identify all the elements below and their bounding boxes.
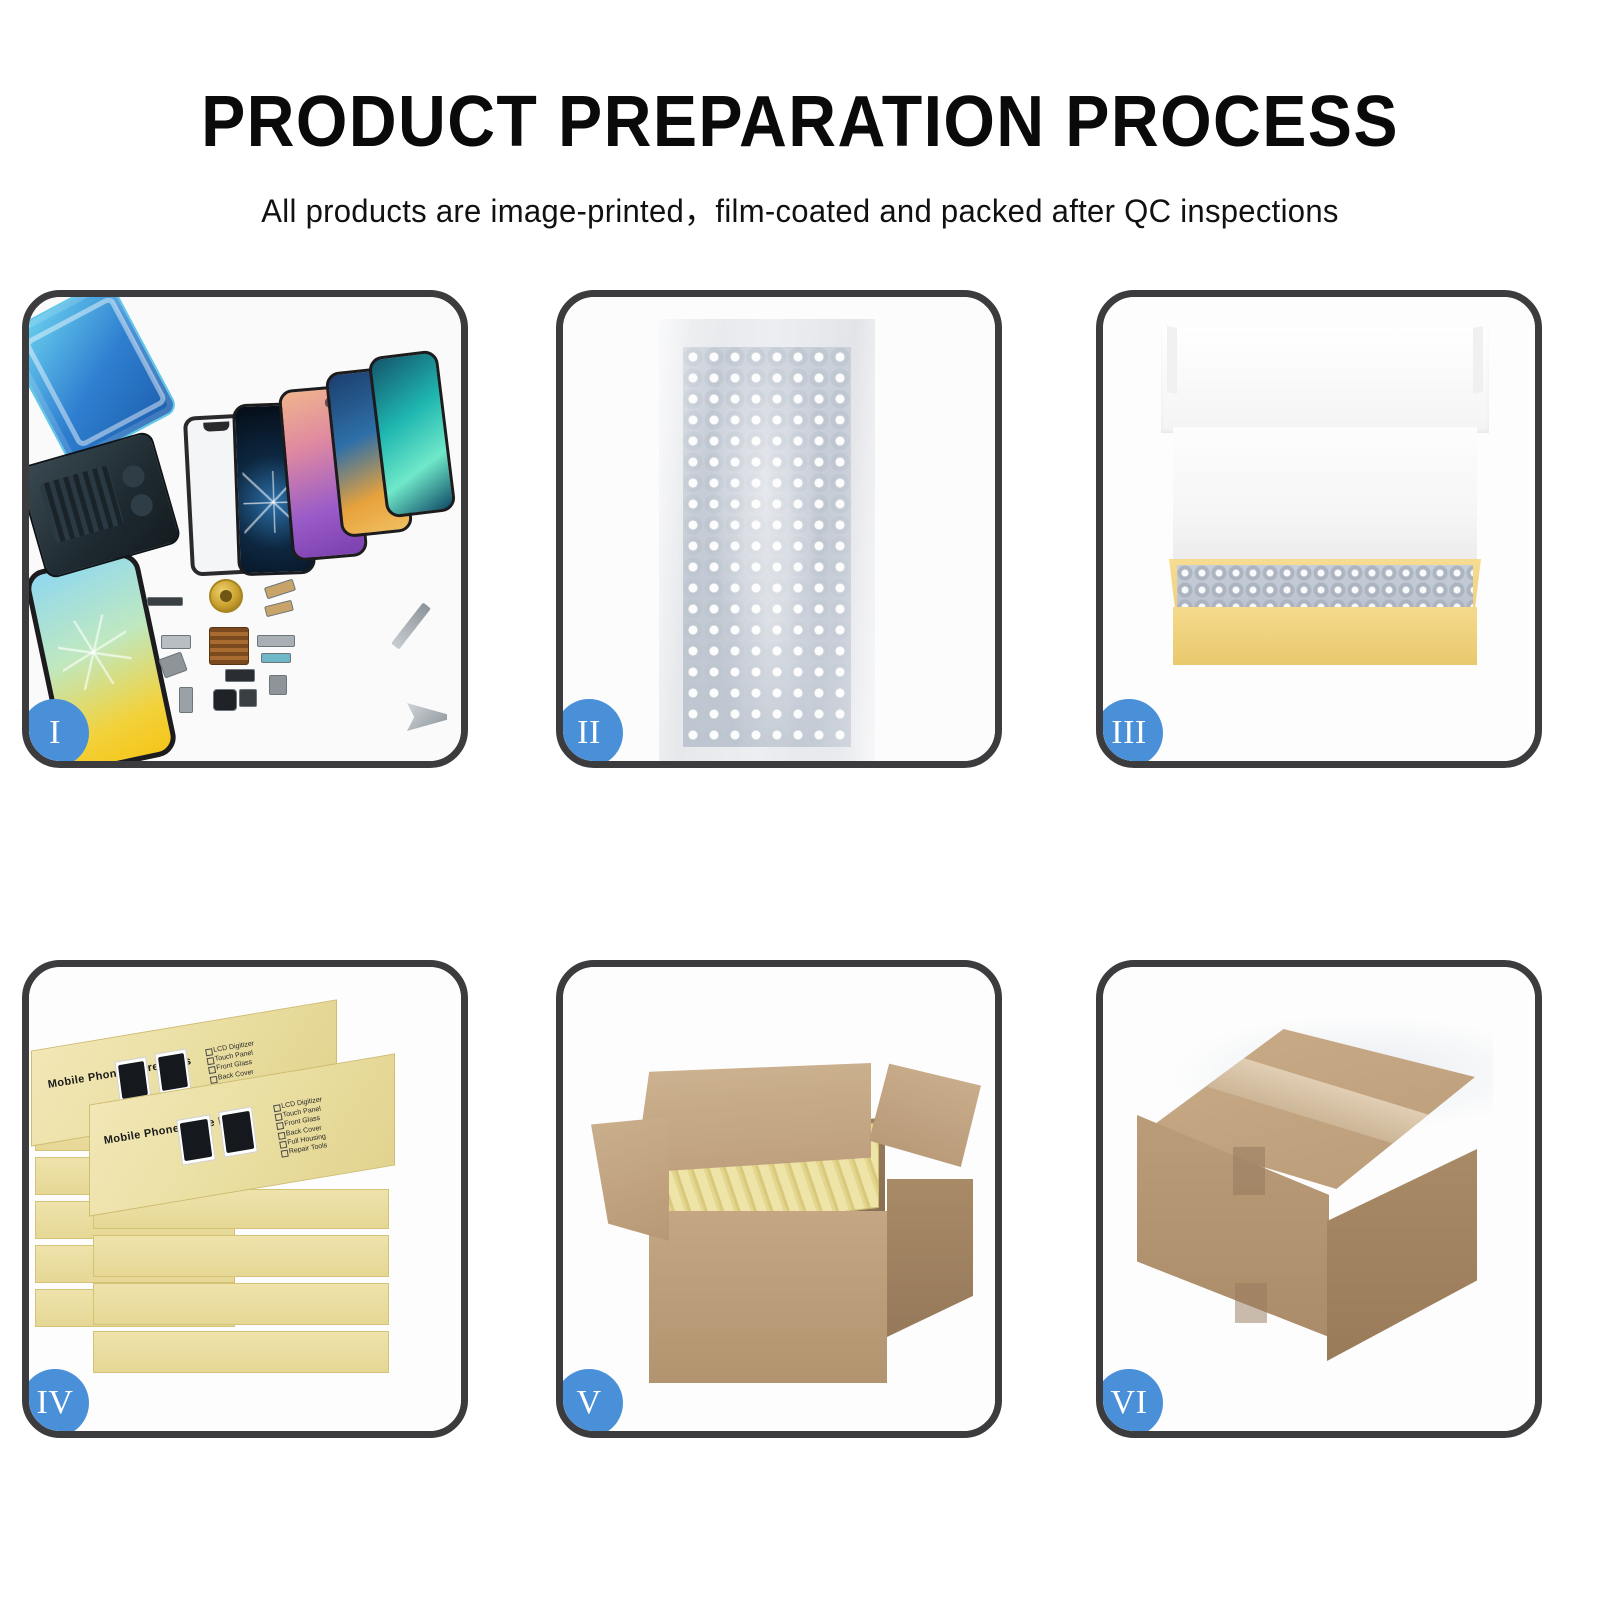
step-panel-2[interactable]: II: [556, 290, 1002, 768]
carton-flap-right: [869, 1057, 981, 1167]
step-6-image: [1103, 967, 1535, 1431]
stacked-box-side: [93, 1283, 389, 1325]
page-subtitle: All products are image-printed，film-coat…: [24, 186, 1576, 232]
step-3-image: [1103, 297, 1535, 761]
step-panel-1[interactable]: I: [22, 290, 468, 768]
step-panel-4[interactable]: Mobile Phone Spare Parts LCD Digitizer T…: [22, 960, 468, 1438]
volume-flex-part: [261, 653, 291, 663]
sim-tray-part: [179, 687, 193, 713]
step-5-image: [563, 967, 995, 1431]
carton-seam-tab: [1233, 1147, 1265, 1195]
step-badge-2: II: [556, 699, 623, 767]
sealed-carton-scene: [1103, 967, 1535, 1431]
adhesive-sticker-image: [29, 297, 179, 467]
open-carton-scene: [563, 967, 995, 1431]
step-badge-5: V: [556, 1369, 623, 1437]
bubble-wrap-bag: [659, 319, 875, 761]
bracket-part: [158, 651, 187, 678]
button-part: [239, 689, 257, 707]
carton-flap-left: [591, 1117, 669, 1241]
earpiece-speaker-part: [147, 597, 183, 606]
foam-insert: [1173, 427, 1477, 569]
plastic-sheen-overlay: [659, 319, 875, 761]
ribbon-cable-part: [257, 635, 295, 647]
logic-board-image: [29, 430, 182, 580]
step-panel-3[interactable]: III: [1096, 290, 1542, 768]
carton-front-wall: [649, 1211, 887, 1383]
wireless-charging-coil-icon: [209, 579, 243, 613]
open-box-scene: [1103, 297, 1535, 761]
step-badge-6: VI: [1096, 1369, 1163, 1437]
gold-box-front-wall: [1173, 607, 1477, 665]
page-title: PRODUCT PREPARATION PROCESS: [64, 86, 1536, 158]
flex-cable-part: [264, 579, 296, 600]
tweezers-icon: [407, 703, 447, 731]
phone-parts-collage: [29, 297, 461, 761]
step-badge-4: IV: [22, 1369, 89, 1437]
flex-cable-part: [264, 600, 294, 617]
camera-module-part: [225, 669, 255, 682]
carton-side-wall: [887, 1179, 973, 1337]
process-steps-grid: I II: [22, 290, 1578, 1470]
header: PRODUCT PREPARATION PROCESS All products…: [0, 0, 1600, 232]
step-badge-3: III: [1096, 699, 1163, 767]
bubble-wrap-scene: [563, 297, 995, 761]
screwdriver-icon: [391, 602, 431, 649]
box-label-phone-thumb: [218, 1106, 258, 1157]
connector-part: [161, 635, 191, 649]
step-panel-5[interactable]: V: [556, 960, 1002, 1438]
box-label-phone-thumb: [176, 1114, 216, 1165]
box-stack-scene: Mobile Phone Spare Parts LCD Digitizer T…: [29, 967, 461, 1431]
ic-chip-image: [209, 627, 249, 665]
stacked-box-side: [93, 1235, 389, 1277]
step-badge-1: I: [22, 699, 89, 767]
box-lid: [1161, 327, 1489, 433]
step-4-image: Mobile Phone Spare Parts LCD Digitizer T…: [29, 967, 461, 1431]
carton-seam-tab: [1235, 1283, 1267, 1323]
box-label-checklist-front: LCD Digitizer Touch Panel Front Glass Ba…: [273, 1095, 331, 1158]
bubble-wrapped-product: [1177, 565, 1473, 613]
stacked-box-side: [93, 1331, 389, 1373]
carton-flap-back: [635, 1063, 871, 1173]
vibrator-motor-part: [269, 675, 287, 695]
speaker-module-part: [213, 689, 237, 711]
infographic-page: PRODUCT PREPARATION PROCESS All products…: [0, 0, 1600, 1600]
carton-right-face: [1327, 1149, 1477, 1361]
step-1-image: [29, 297, 461, 761]
step-2-image: [563, 297, 995, 761]
step-panel-6[interactable]: VI: [1096, 960, 1542, 1438]
